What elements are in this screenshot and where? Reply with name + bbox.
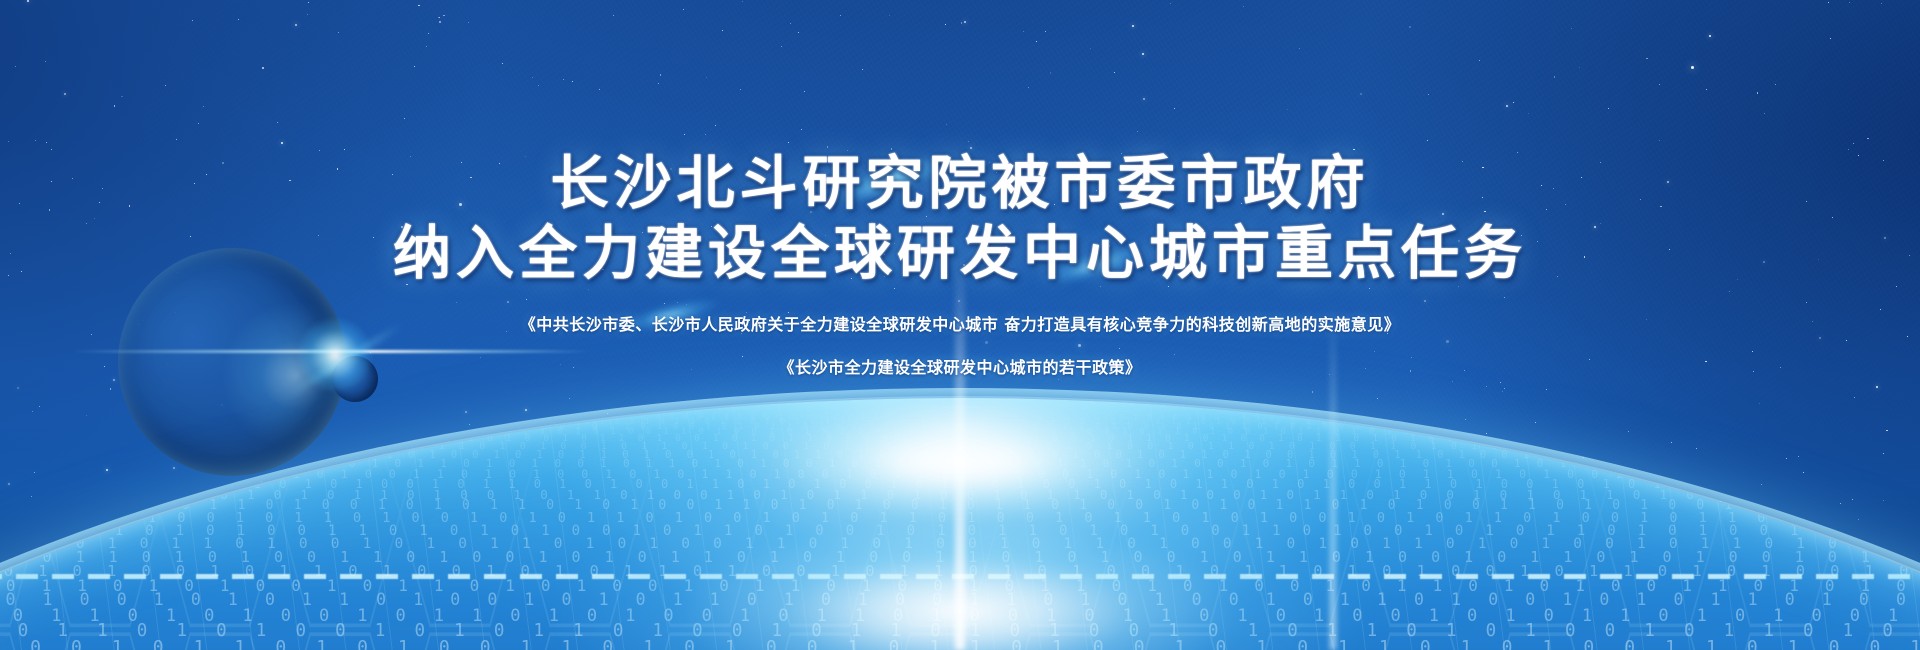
banner-content: 长沙北斗研究院被市委市政府 纳入全力建设全球研发中心城市重点任务 《中共长沙市委…	[0, 0, 1920, 383]
banner-subtitles: 《中共长沙市委、长沙市人民政府关于全力建设全球研发中心城市 奋力打造具有核心竞争…	[0, 310, 1920, 383]
subtitle-line-1: 《中共长沙市委、长沙市人民政府关于全力建设全球研发中心城市 奋力打造具有核心竞争…	[0, 310, 1920, 340]
subtitle-line-2: 《长沙市全力建设全球研发中心城市的若干政策》	[0, 353, 1920, 383]
announcement-banner: 0 1 0 1 1 0 1 0 0 1 0 1 0 1 1 0 1 0 1 0 …	[0, 0, 1920, 650]
horizon-hotspot-glow	[700, 372, 1220, 522]
title-line-1: 长沙北斗研究院被市委市政府	[0, 148, 1920, 218]
page-title: 长沙北斗研究院被市委市政府 纳入全力建设全球研发中心城市重点任务	[0, 148, 1920, 288]
title-line-2: 纳入全力建设全球研发中心城市重点任务	[0, 218, 1920, 288]
